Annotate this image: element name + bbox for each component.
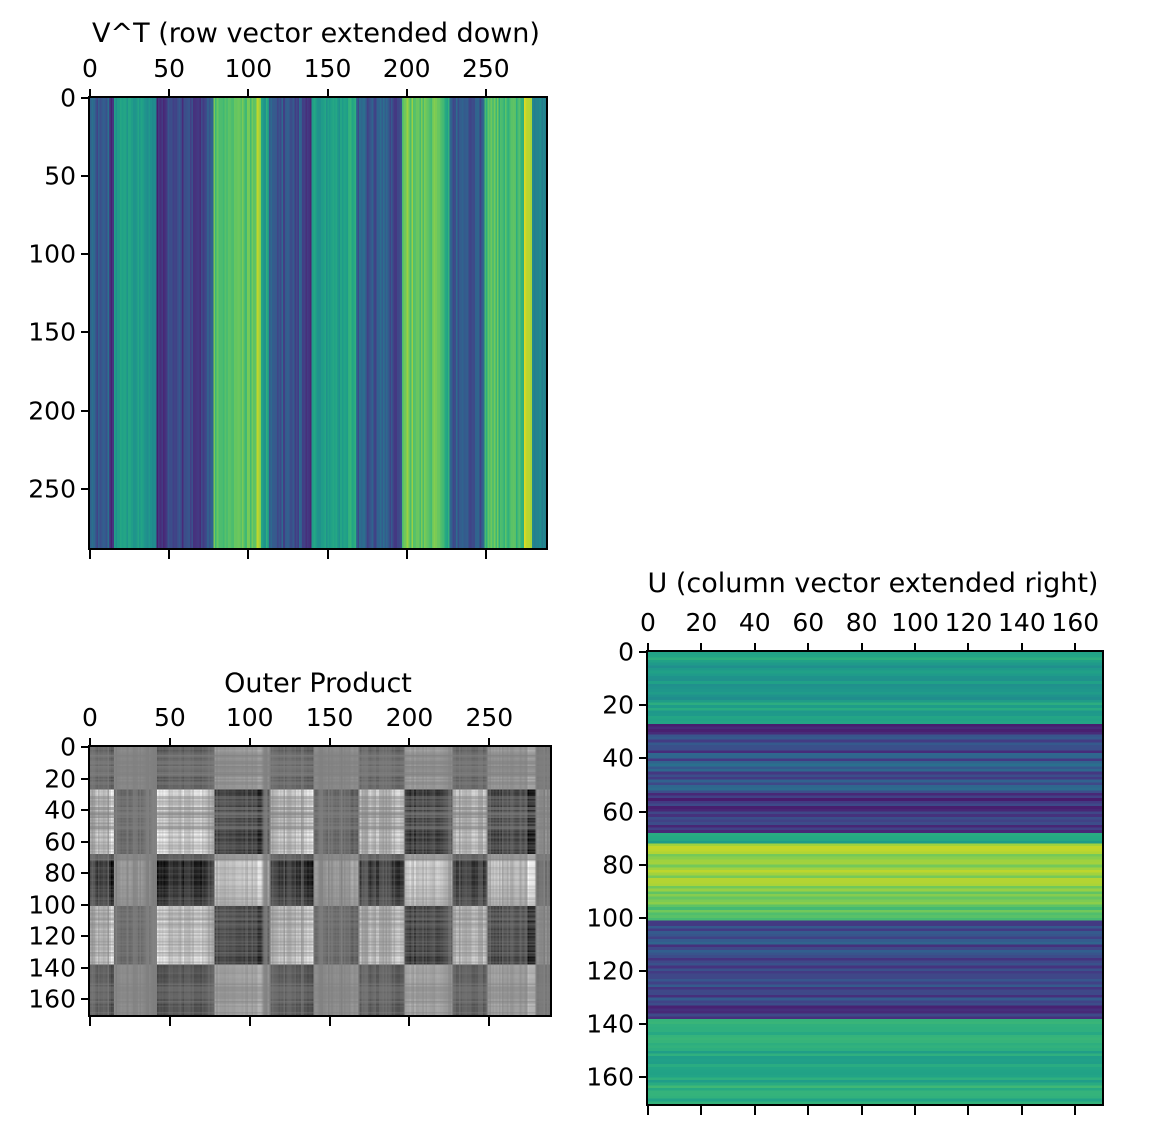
y-ticklabel-u-160: 160 [586, 1065, 634, 1090]
x-ticklabel-vt-100: 100 [224, 56, 272, 81]
x-tick-vt-200 [406, 89, 408, 98]
vt-heatmap [88, 96, 548, 550]
y-tick-vt-100 [81, 253, 90, 255]
vt-title: V^T (row vector extended down) [92, 20, 540, 47]
y-tick-outer-100 [81, 904, 90, 906]
x-tick-bottom-outer-250 [488, 1017, 490, 1026]
x-ticklabel-vt-250: 250 [462, 56, 510, 81]
y-tick-u-160 [639, 1076, 648, 1078]
vt-heatmap-canvas [90, 98, 546, 548]
y-tick-outer-140 [81, 967, 90, 969]
x-tick-bottom-vt-100 [247, 550, 249, 559]
y-tick-outer-80 [81, 872, 90, 874]
y-ticklabel-u-80: 80 [602, 852, 634, 877]
x-tick-vt-50 [168, 89, 170, 98]
y-ticklabel-u-120: 120 [586, 959, 634, 984]
x-tick-bottom-u-120 [967, 1106, 969, 1115]
x-ticklabel-u-40: 40 [739, 610, 771, 635]
outer-product-heatmap [88, 745, 552, 1017]
y-tick-vt-200 [81, 410, 90, 412]
x-tick-u-140 [1021, 643, 1023, 652]
axes-outer-product: Outer Product 05010015020025002040608010… [0, 600, 600, 1070]
y-tick-outer-60 [81, 841, 90, 843]
y-ticklabel-vt-100: 100 [28, 242, 76, 267]
x-tick-bottom-u-60 [807, 1106, 809, 1115]
x-tick-outer-150 [329, 738, 331, 747]
x-ticklabel-u-100: 100 [891, 610, 939, 635]
y-ticklabel-u-40: 40 [602, 746, 634, 771]
y-ticklabel-u-60: 60 [602, 799, 634, 824]
y-tick-vt-50 [81, 175, 90, 177]
y-ticklabel-outer-40: 40 [44, 798, 76, 823]
x-ticklabel-u-80: 80 [846, 610, 878, 635]
x-tick-bottom-u-80 [861, 1106, 863, 1115]
x-tick-u-100 [914, 643, 916, 652]
x-ticklabel-u-140: 140 [998, 610, 1046, 635]
y-tick-u-80 [639, 864, 648, 866]
y-tick-u-0 [639, 651, 648, 653]
y-tick-vt-250 [81, 488, 90, 490]
y-tick-outer-0 [81, 746, 90, 748]
x-tick-bottom-u-0 [647, 1106, 649, 1115]
u-title: U (column vector extended right) [648, 570, 1099, 597]
x-tick-bottom-u-40 [754, 1106, 756, 1115]
x-tick-vt-150 [327, 89, 329, 98]
x-ticklabel-u-60: 60 [792, 610, 824, 635]
x-ticklabel-outer-0: 0 [82, 705, 98, 730]
x-tick-outer-250 [488, 738, 490, 747]
x-ticklabel-outer-200: 200 [386, 705, 434, 730]
x-tick-bottom-vt-0 [89, 550, 91, 559]
x-ticklabel-u-160: 160 [1051, 610, 1099, 635]
u-heatmap [646, 650, 1104, 1106]
axes-u: U (column vector extended right) 0204060… [563, 540, 1163, 1132]
x-tick-bottom-outer-0 [89, 1017, 91, 1026]
x-ticklabel-outer-100: 100 [226, 705, 274, 730]
y-ticklabel-u-0: 0 [618, 640, 634, 665]
x-tick-bottom-vt-50 [168, 550, 170, 559]
y-ticklabel-vt-150: 150 [28, 320, 76, 345]
x-tick-vt-100 [247, 89, 249, 98]
x-tick-bottom-u-100 [914, 1106, 916, 1115]
u-heatmap-canvas [648, 652, 1102, 1104]
y-ticklabel-outer-20: 20 [44, 766, 76, 791]
x-tick-u-80 [861, 643, 863, 652]
y-ticklabel-outer-160: 160 [28, 987, 76, 1012]
matplotlib-figure: V^T (row vector extended down) 050100150… [0, 0, 1163, 1132]
y-tick-u-100 [639, 917, 648, 919]
x-tick-bottom-outer-100 [249, 1017, 251, 1026]
y-ticklabel-vt-200: 200 [28, 398, 76, 423]
x-ticklabel-vt-200: 200 [383, 56, 431, 81]
y-tick-vt-0 [81, 97, 90, 99]
y-tick-u-120 [639, 970, 648, 972]
y-ticklabel-outer-0: 0 [60, 735, 76, 760]
x-tick-bottom-u-160 [1074, 1106, 1076, 1115]
x-tick-u-20 [700, 643, 702, 652]
y-ticklabel-vt-50: 50 [44, 164, 76, 189]
x-tick-bottom-outer-150 [329, 1017, 331, 1026]
y-tick-u-20 [639, 704, 648, 706]
y-ticklabel-u-100: 100 [586, 905, 634, 930]
y-tick-outer-40 [81, 809, 90, 811]
axes-vt: V^T (row vector extended down) 050100150… [0, 0, 600, 600]
y-tick-u-40 [639, 757, 648, 759]
x-tick-bottom-vt-250 [485, 550, 487, 559]
x-ticklabel-outer-250: 250 [465, 705, 513, 730]
y-tick-outer-120 [81, 935, 90, 937]
x-tick-bottom-outer-200 [408, 1017, 410, 1026]
y-tick-outer-160 [81, 998, 90, 1000]
x-tick-bottom-outer-50 [169, 1017, 171, 1026]
x-tick-u-160 [1074, 643, 1076, 652]
x-tick-u-120 [967, 643, 969, 652]
y-tick-outer-20 [81, 778, 90, 780]
x-tick-outer-200 [408, 738, 410, 747]
x-tick-u-60 [807, 643, 809, 652]
x-tick-outer-100 [249, 738, 251, 747]
x-ticklabel-outer-150: 150 [306, 705, 354, 730]
x-tick-vt-250 [485, 89, 487, 98]
x-ticklabel-u-0: 0 [640, 610, 656, 635]
y-tick-vt-150 [81, 331, 90, 333]
outer-product-title: Outer Product [224, 670, 412, 697]
y-ticklabel-vt-0: 0 [60, 86, 76, 111]
x-tick-bottom-vt-200 [406, 550, 408, 559]
y-ticklabel-u-20: 20 [602, 693, 634, 718]
y-ticklabel-outer-140: 140 [28, 955, 76, 980]
x-ticklabel-outer-50: 50 [154, 705, 186, 730]
x-ticklabel-vt-0: 0 [82, 56, 98, 81]
y-tick-u-60 [639, 811, 648, 813]
x-ticklabel-vt-50: 50 [153, 56, 185, 81]
y-ticklabel-vt-250: 250 [28, 476, 76, 501]
x-tick-bottom-u-20 [700, 1106, 702, 1115]
x-tick-bottom-vt-150 [327, 550, 329, 559]
y-tick-u-140 [639, 1023, 648, 1025]
y-ticklabel-u-140: 140 [586, 1012, 634, 1037]
y-ticklabel-outer-120: 120 [28, 924, 76, 949]
x-ticklabel-vt-150: 150 [304, 56, 352, 81]
x-ticklabel-u-20: 20 [686, 610, 718, 635]
x-tick-outer-50 [169, 738, 171, 747]
x-ticklabel-u-120: 120 [945, 610, 993, 635]
y-ticklabel-outer-100: 100 [28, 892, 76, 917]
x-tick-bottom-u-140 [1021, 1106, 1023, 1115]
y-ticklabel-outer-60: 60 [44, 829, 76, 854]
x-tick-u-40 [754, 643, 756, 652]
outer-product-heatmap-canvas [90, 747, 550, 1015]
y-ticklabel-outer-80: 80 [44, 861, 76, 886]
